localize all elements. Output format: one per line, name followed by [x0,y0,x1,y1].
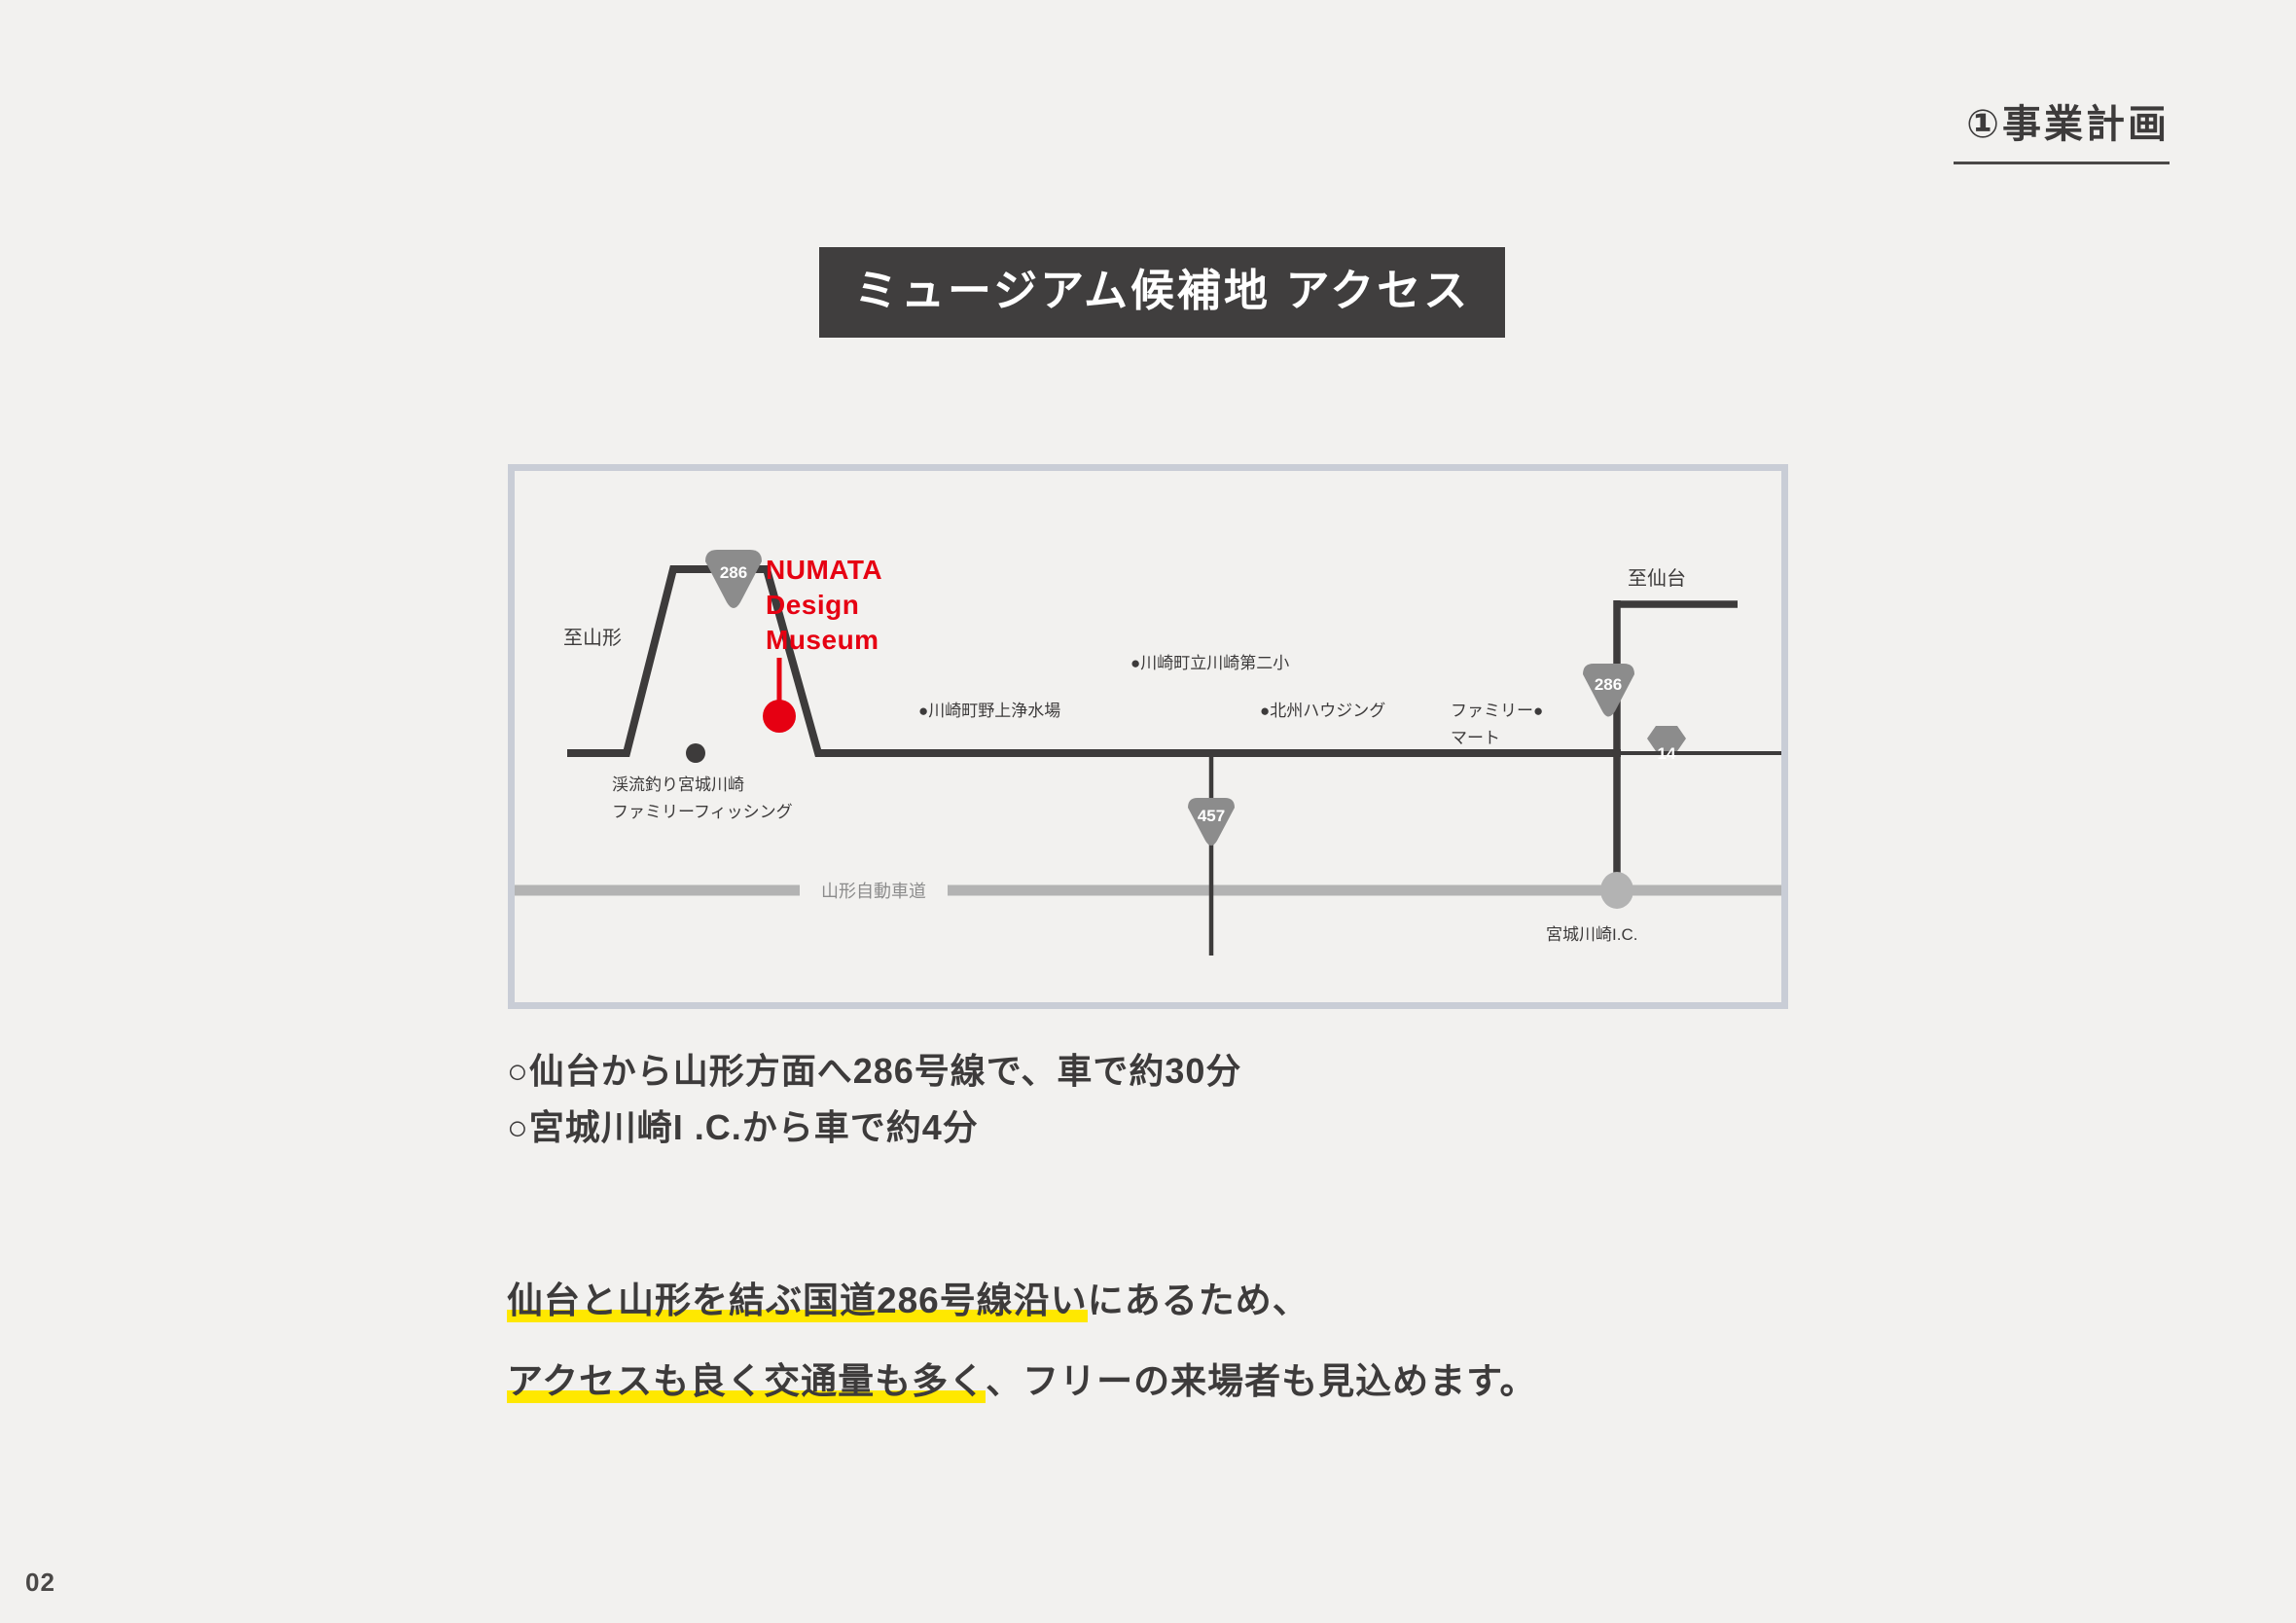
access-notes: ○仙台から山形方面へ286号線で、車で約30分 ○宮城川崎I .C.から車で約4… [507,1043,1241,1157]
poi-label-keiryu-fishing-line2: ファミリーフィッシング [612,803,793,821]
interchange-marker-group: 宮城川崎I.C. [1546,872,1637,944]
to-yamagata-label: 至山形 [563,627,622,649]
access-note-item: ○宮城川崎I .C.から車で約4分 [507,1100,1241,1156]
poi-label-familymart-line1: ファミリー● [1451,702,1543,720]
access-map-panel: 山形自動車道 457 286 至仙台 14 [508,464,1788,1009]
poi-label-nogami-jousuijou: ●川崎町野上浄水場 [918,702,1060,720]
route-14-shield-number: 14 [1658,744,1676,763]
poi-label-familymart-line2: マート [1451,729,1500,747]
summary-block: 仙台と山形を結ぶ国道286号線沿いにあるため、 アクセスも良く交通量も多く、フリ… [507,1282,1536,1444]
route-14-shield: 14 [1647,726,1686,763]
poi-hokushu-housing: ●北州ハウジング [1260,702,1385,720]
slide-title-banner: ミュージアム候補地 アクセス [819,247,1505,338]
poi-familymart: ファミリー● マート [1451,702,1543,747]
section-header-title: ①事業計画 [1954,105,2170,144]
summary-rest-1: にあるため、 [1088,1280,1309,1320]
poi-keiryu-fishing: 渓流釣り宮城川崎 ファミリーフィッシング [612,743,793,821]
route-457-shield: 457 [1188,798,1235,846]
route-457-shield-number: 457 [1198,807,1225,825]
section-header: ①事業計画 [1954,105,2170,164]
access-note-item: ○仙台から山形方面へ286号線で、車で約30分 [507,1043,1241,1100]
page-number: 02 [25,1568,55,1598]
museum-marker-group: NUMATA Design Museum [763,555,882,733]
route-14-group: 14 [1617,726,1781,763]
summary-highlight-2: アクセスも良く交通量も多く [507,1361,986,1403]
poi-label-kawasaki-daini-sho: ●川崎町立川崎第二小 [1130,654,1289,672]
section-header-rule [1954,162,2170,164]
poi-dot-keiryu-fishing [686,743,705,763]
poi-label-keiryu-fishing-line1: 渓流釣り宮城川崎 [612,775,744,794]
to-sendai-label: 至仙台 [1628,567,1686,590]
access-map-graphic: 山形自動車道 457 286 至仙台 14 [515,471,1781,1002]
interchange-label: 宮城川崎I.C. [1546,925,1637,944]
route-286-main-group: 286 至山形 [563,550,1621,753]
summary-rest-2: 、フリーの来場者も見込めます。 [986,1361,1536,1401]
route-286-east-shield-number: 286 [1595,675,1622,694]
summary-highlight-1: 仙台と山形を結ぶ国道286号線沿い [507,1280,1088,1322]
summary-line-1: 仙台と山形を結ぶ国道286号線沿いにあるため、 [507,1282,1536,1318]
museum-name-line2: Design [766,590,859,620]
route-286-west-shield-number: 286 [720,563,747,582]
route-457-group: 457 [1188,751,1235,956]
summary-line-2: アクセスも良く交通量も多く、フリーの来場者も見込めます。 [507,1363,1536,1399]
poi-label-hokushu-housing: ●北州ハウジング [1260,702,1385,720]
museum-name-line3: Museum [766,625,879,655]
interchange-node [1600,872,1633,909]
museum-name-line1: NUMATA [766,555,882,585]
poi-kawasaki-daini-sho: ●川崎町立川崎第二小 [1130,654,1289,672]
expressway-group: 山形自動車道 [515,882,1781,901]
museum-location-dot [763,700,796,733]
poi-nogami-jousuijou: ●川崎町野上浄水場 [918,702,1060,720]
route-286-east-shield: 286 [1583,664,1634,717]
expressway-label: 山形自動車道 [821,882,926,901]
